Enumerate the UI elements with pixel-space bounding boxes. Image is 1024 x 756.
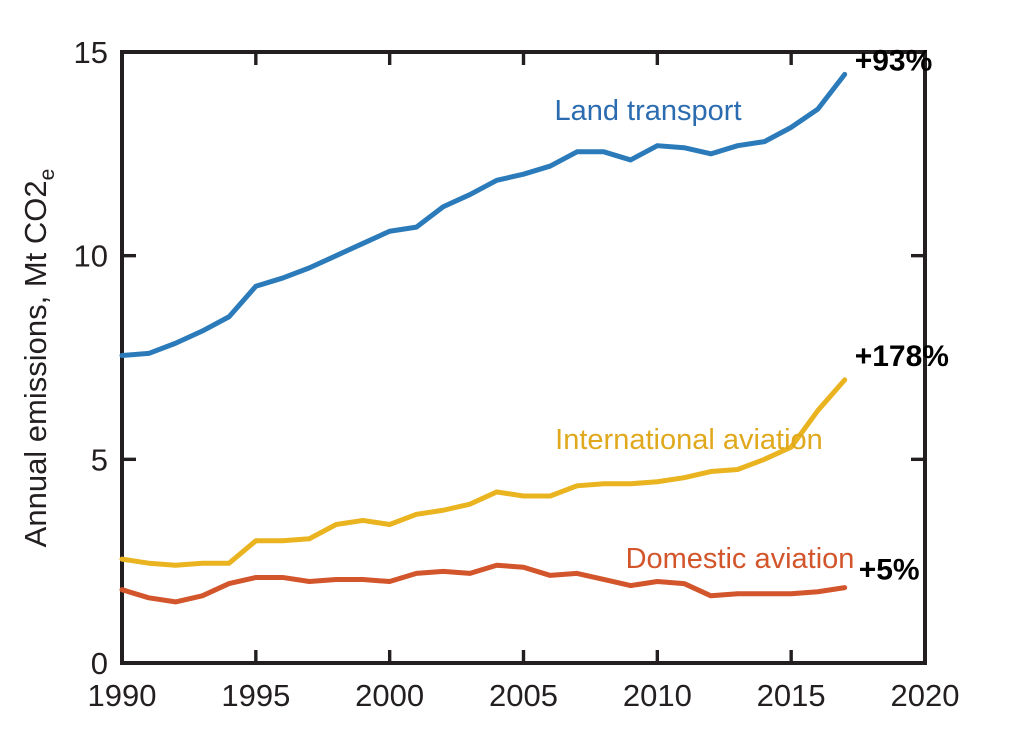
y-axis-tick-labels: 051015 (74, 35, 108, 681)
annotation-international-aviation: +178% (855, 340, 949, 373)
series-lines (122, 74, 845, 601)
x-tick-label: 2000 (355, 678, 424, 713)
annotation-domestic-aviation: +5% (859, 554, 920, 587)
x-tick-label: 2010 (623, 678, 692, 713)
annotation-land-transport: +93% (855, 44, 933, 77)
emissions-line-chart: 1990199520002005201020152020 051015 Annu… (0, 0, 1024, 756)
y-tick-label: 15 (74, 35, 108, 70)
chart-container: 1990199520002005201020152020 051015 Annu… (0, 0, 1024, 756)
y-tick-label: 10 (74, 239, 108, 274)
series-line-international-aviation (122, 380, 845, 565)
y-axis-title: Annual emissions, Mt CO2e (18, 169, 59, 548)
x-tick-label: 2020 (891, 678, 960, 713)
x-tick-label: 2005 (489, 678, 558, 713)
series-inline-labels: Land transportInternational aviationDome… (554, 95, 854, 575)
x-tick-label: 1995 (221, 678, 290, 713)
series-label-domestic-aviation: Domestic aviation (626, 543, 855, 575)
series-label-land-transport: Land transport (554, 95, 741, 127)
series-label-international-aviation: International aviation (555, 424, 823, 456)
y-tick-label: 5 (91, 442, 108, 477)
x-tick-label: 1990 (88, 678, 157, 713)
series-annotations: +93%+178%+5% (855, 44, 949, 586)
x-axis-tick-labels: 1990199520002005201020152020 (88, 678, 960, 713)
y-tick-label: 0 (91, 646, 108, 681)
x-tick-label: 2015 (757, 678, 826, 713)
